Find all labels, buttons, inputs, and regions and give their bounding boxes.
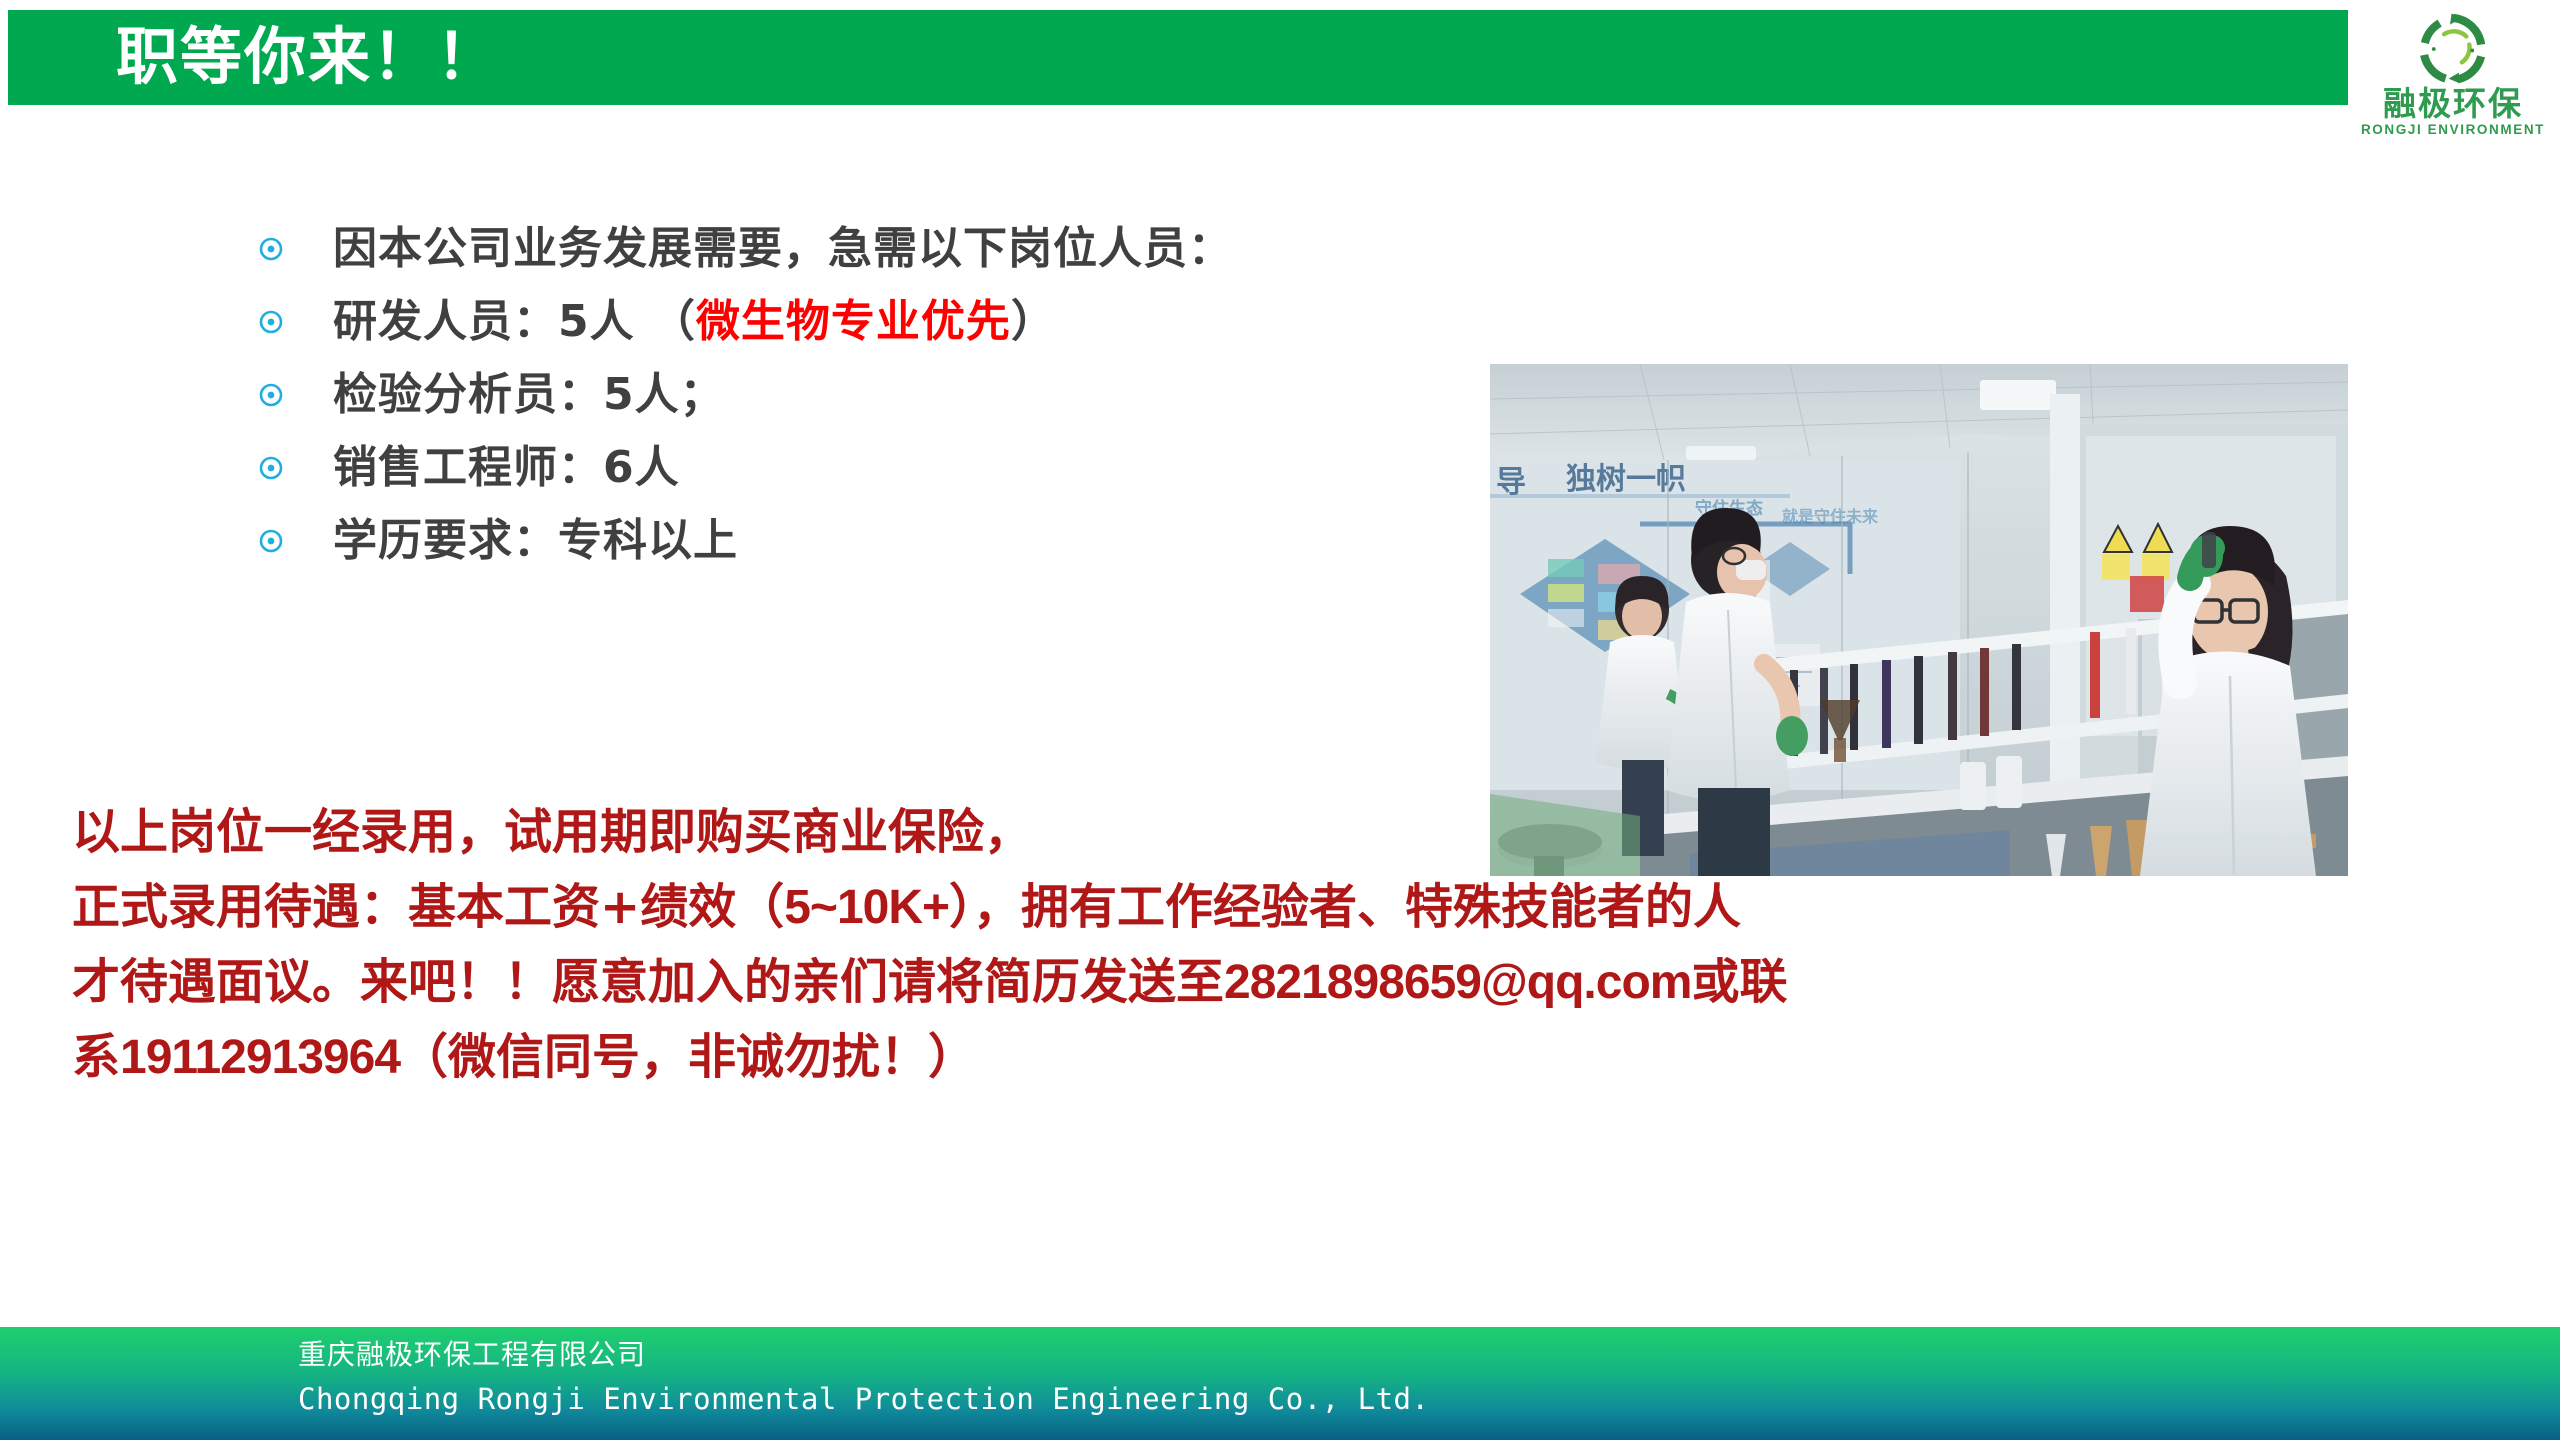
list-item: 因本公司业务发展需要，急需以下岗位人员： — [258, 212, 1478, 285]
job-list: 因本公司业务发展需要，急需以下岗位人员： 研发人员：5人 （微生物专业优先） 检… — [258, 212, 1478, 577]
bullet-circle-dot-icon — [258, 528, 284, 554]
bullet-circle-dot-icon — [258, 455, 284, 481]
contact-phone[interactable]: 19112913964 — [120, 1031, 400, 1084]
title-banner: 职等你来！！ — [8, 10, 2424, 105]
salary-range: 5~10K+ — [784, 881, 949, 934]
recycle-circle-arrows-icon — [2416, 12, 2490, 86]
page-title: 职等你来！！ — [116, 26, 500, 88]
phone-suffix: （微信同号，非诚勿扰！） — [400, 1029, 976, 1085]
phone-prefix: 系 — [72, 1029, 120, 1085]
bullet-circle-dot-icon — [258, 382, 284, 408]
bullet-circle-dot-icon — [258, 309, 284, 335]
job-rd-label: 研发人员：5人 （ — [333, 296, 696, 347]
contact-email[interactable]: 2821898659@qq.com — [1224, 956, 1691, 1009]
bullet-circle-dot-icon — [258, 236, 284, 262]
job-rd-paren-close: ） — [1011, 296, 1056, 347]
list-item-label: 学历要求：专科以上 — [333, 519, 738, 563]
logo-name-cn: 融极环保 — [2383, 87, 2523, 120]
salary-suffix: ），拥有工作经验者、特殊技能者的人 — [949, 879, 1741, 935]
logo-name-en: RONGJI ENVIRONMENT — [2361, 123, 2545, 137]
paragraph-line-2: 正式录用待遇：基本工资+绩效（5~10K+），拥有工作经验者、特殊技能者的人 — [72, 870, 2492, 945]
footer-company-cn: 重庆融极环保工程有限公司 — [298, 1341, 646, 1369]
resume-prefix: 才待遇面议。来吧！！愿意加入的亲们请将简历发送至 — [72, 954, 1224, 1010]
paragraph-line-3: 才待遇面议。来吧！！愿意加入的亲们请将简历发送至2821898659@qq.co… — [72, 945, 2492, 1020]
paragraph-line-1: 以上岗位一经录用，试用期即购买商业保险， — [72, 795, 2492, 870]
list-item-label: 检验分析员：5人； — [333, 373, 725, 417]
salary-prefix: 正式录用待遇：基本工资+绩效（ — [72, 879, 784, 935]
benefits-paragraph: 以上岗位一经录用，试用期即购买商业保险， 正式录用待遇：基本工资+绩效（5~10… — [72, 795, 2492, 1095]
resume-suffix: 或联 — [1691, 954, 1787, 1010]
list-item: 销售工程师：6人 — [258, 431, 1478, 504]
recruitment-slide: 职等你来！！ 融极环保 RONGJI E — [0, 0, 2560, 1440]
company-logo: 融极环保 RONGJI ENVIRONMENT — [2348, 6, 2558, 154]
list-item: 研发人员：5人 （微生物专业优先） — [258, 285, 1478, 358]
footer-bar: 重庆融极环保工程有限公司 Chongqing Rongji Environmen… — [0, 1327, 2560, 1440]
list-item-label: 研发人员：5人 （微生物专业优先） — [333, 300, 1056, 344]
list-item: 检验分析员：5人； — [258, 358, 1478, 431]
paragraph-line-4: 系19112913964（微信同号，非诚勿扰！） — [72, 1020, 2492, 1095]
list-item: 学历要求：专科以上 — [258, 504, 1478, 577]
list-item-label: 因本公司业务发展需要，急需以下岗位人员： — [333, 227, 1233, 271]
list-item-label: 销售工程师：6人 — [333, 446, 680, 490]
job-rd-preference: 微生物专业优先 — [696, 296, 1011, 347]
footer-company-en: Chongqing Rongji Environmental Protectio… — [298, 1385, 1429, 1414]
